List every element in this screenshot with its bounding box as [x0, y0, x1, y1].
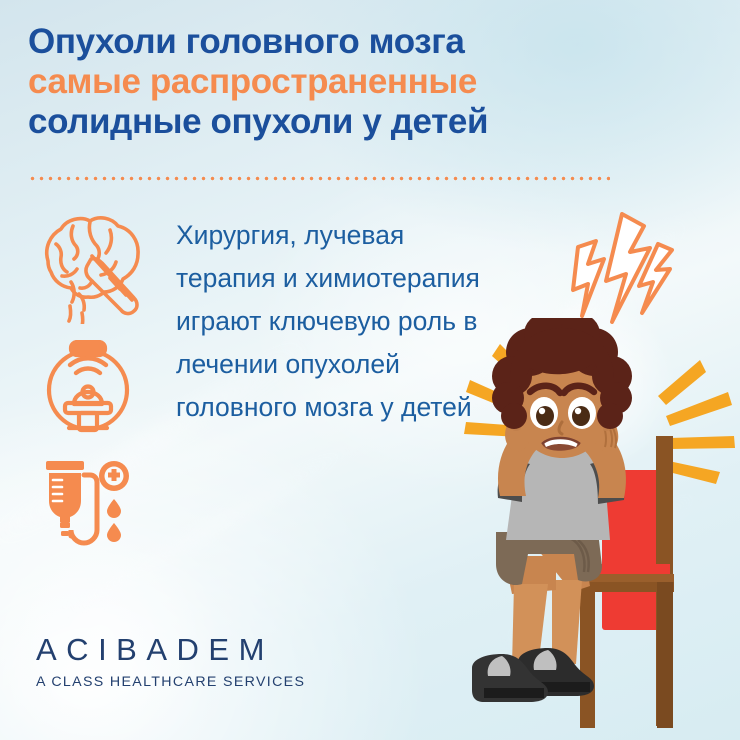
brain-surgery-icon [28, 214, 146, 329]
brand-logo: ACIBADEM A CLASS HEALTHCARE SERVICES [36, 633, 305, 690]
chemotherapy-iv-icon [36, 455, 146, 560]
page-title: Опухоли головного мозга самые распростра… [28, 22, 648, 142]
boy-with-headache-illustration [452, 318, 740, 740]
logo-wordmark: ACIBADEM [36, 633, 305, 667]
title-line-1: Опухоли головного мозга [28, 22, 648, 62]
logo-tagline: A CLASS HEALTHCARE SERVICES [36, 674, 305, 690]
title-line-2: самые распространенные [28, 62, 648, 102]
infographic-poster: Опухоли головного мозга самые распростра… [0, 0, 740, 740]
title-line-3: солидные опухоли у детей [28, 102, 648, 142]
dotted-divider [28, 176, 610, 181]
radiation-therapy-icon [38, 340, 138, 445]
lightning-bolts-icon [560, 212, 678, 329]
